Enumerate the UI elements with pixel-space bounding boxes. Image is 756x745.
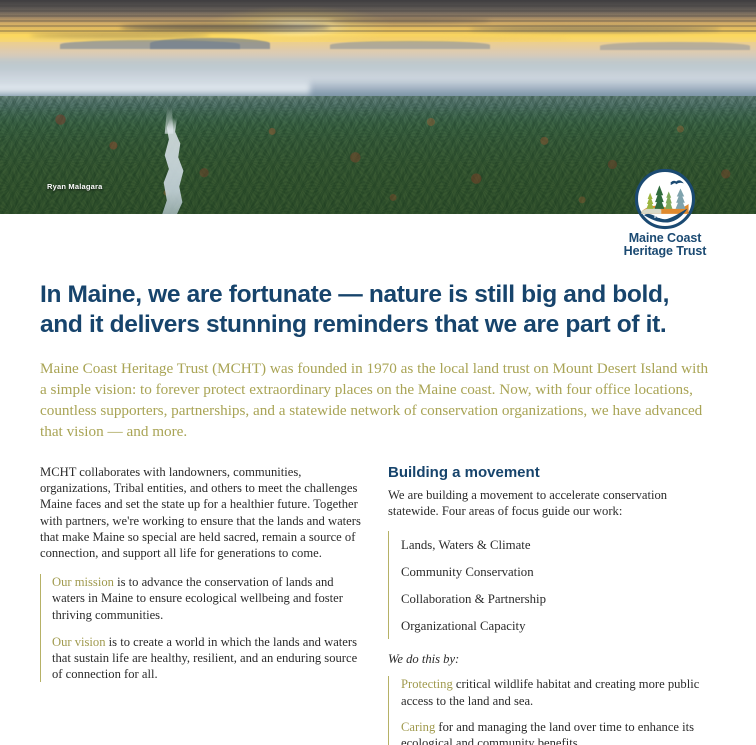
intro-paragraph: Maine Coast Heritage Trust (MCHT) was fo…	[40, 358, 716, 442]
page-headline: In Maine, we are fortunate — nature is s…	[40, 280, 716, 340]
cloud-streak	[470, 26, 720, 32]
action-lede: Protecting	[401, 677, 453, 691]
mist-layer	[0, 78, 310, 98]
action-item: Protecting critical wildlife habitat and…	[401, 676, 714, 708]
movement-paragraph: We are building a movement to accelerate…	[388, 487, 714, 519]
mission-vision-block: Our mission is to advance the conservati…	[40, 574, 362, 682]
actions-block: Protecting critical wildlife habitat and…	[388, 676, 714, 745]
collaboration-paragraph: MCHT collaborates with landowners, commu…	[40, 464, 362, 561]
island-silhouette	[150, 38, 270, 49]
vision-lede: Our vision	[52, 635, 106, 649]
cloud-streak	[30, 33, 210, 38]
left-column: MCHT collaborates with landowners, commu…	[40, 464, 362, 745]
page-content: In Maine, we are fortunate — nature is s…	[0, 280, 756, 745]
list-item: Collaboration & Partnership	[401, 585, 714, 612]
logo-wordmark: Maine Coast Heritage Trust	[610, 232, 720, 258]
vision-statement: Our vision is to create a world in which…	[52, 634, 362, 683]
logo-wordmark-line2: Heritage Trust	[610, 245, 720, 258]
island-silhouette	[600, 42, 750, 50]
organization-logo: Maine Coast Heritage Trust	[610, 168, 720, 258]
action-item: Caring for and managing the land over ti…	[401, 719, 714, 745]
cloud-streak	[120, 24, 330, 31]
we-do-this-by-label: We do this by:	[388, 652, 714, 667]
island-silhouette	[330, 41, 490, 49]
maine-coast-heritage-trust-logo-icon	[634, 168, 696, 230]
list-item: Organizational Capacity	[401, 612, 714, 639]
focus-areas-list: Lands, Waters & Climate Community Conser…	[388, 531, 714, 639]
cloud-streak	[330, 18, 490, 23]
right-column: Building a movement We are building a mo…	[388, 464, 714, 745]
mission-lede: Our mission	[52, 575, 114, 589]
action-text: for and managing the land over time to e…	[401, 720, 694, 745]
action-lede: Caring	[401, 720, 435, 734]
photo-credit: Ryan Malagara	[47, 182, 103, 191]
section-title-building-a-movement: Building a movement	[388, 464, 714, 482]
two-column-body: MCHT collaborates with landowners, commu…	[40, 464, 716, 745]
list-item: Lands, Waters & Climate	[401, 531, 714, 558]
mission-statement: Our mission is to advance the conservati…	[52, 574, 362, 623]
list-item: Community Conservation	[401, 558, 714, 585]
